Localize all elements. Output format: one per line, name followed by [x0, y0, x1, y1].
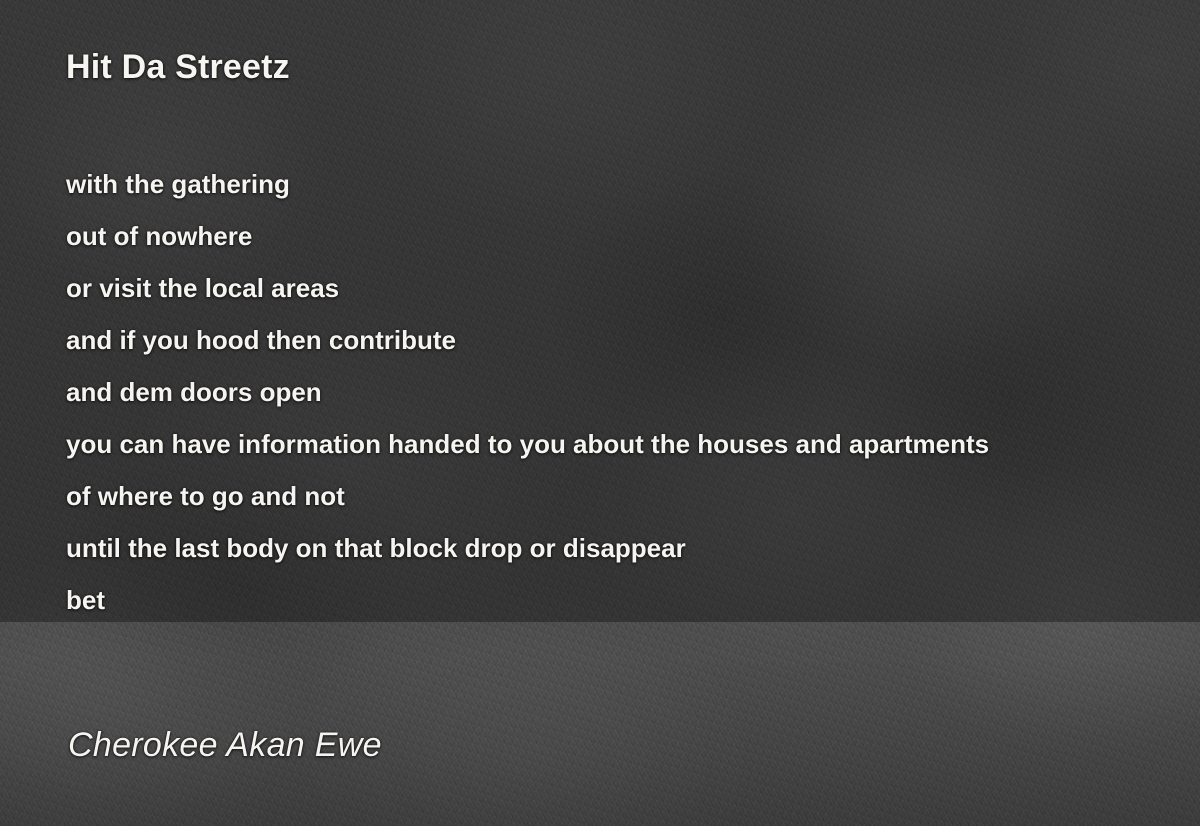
poem-line: bet [66, 574, 1200, 626]
poem-line: and if you hood then contribute [66, 314, 1200, 366]
poem-author: Cherokee Akan Ewe [68, 726, 382, 765]
poem-line: and dem doors open [66, 366, 1200, 418]
poem-line: of where to go and not [66, 470, 1200, 522]
poem-title: Hit Da Streetz [66, 48, 290, 87]
poem-body: with the gathering out of nowhere or vis… [66, 158, 1200, 626]
poem-line: you can have information handed to you a… [66, 418, 1200, 470]
poem-line: with the gathering [66, 158, 1200, 210]
poem-card: Hit Da Streetz with the gathering out of… [0, 0, 1200, 826]
poem-content: Hit Da Streetz with the gathering out of… [0, 0, 1200, 826]
poem-line: until the last body on that block drop o… [66, 522, 1200, 574]
poem-line: or visit the local areas [66, 262, 1200, 314]
poem-line: out of nowhere [66, 210, 1200, 262]
